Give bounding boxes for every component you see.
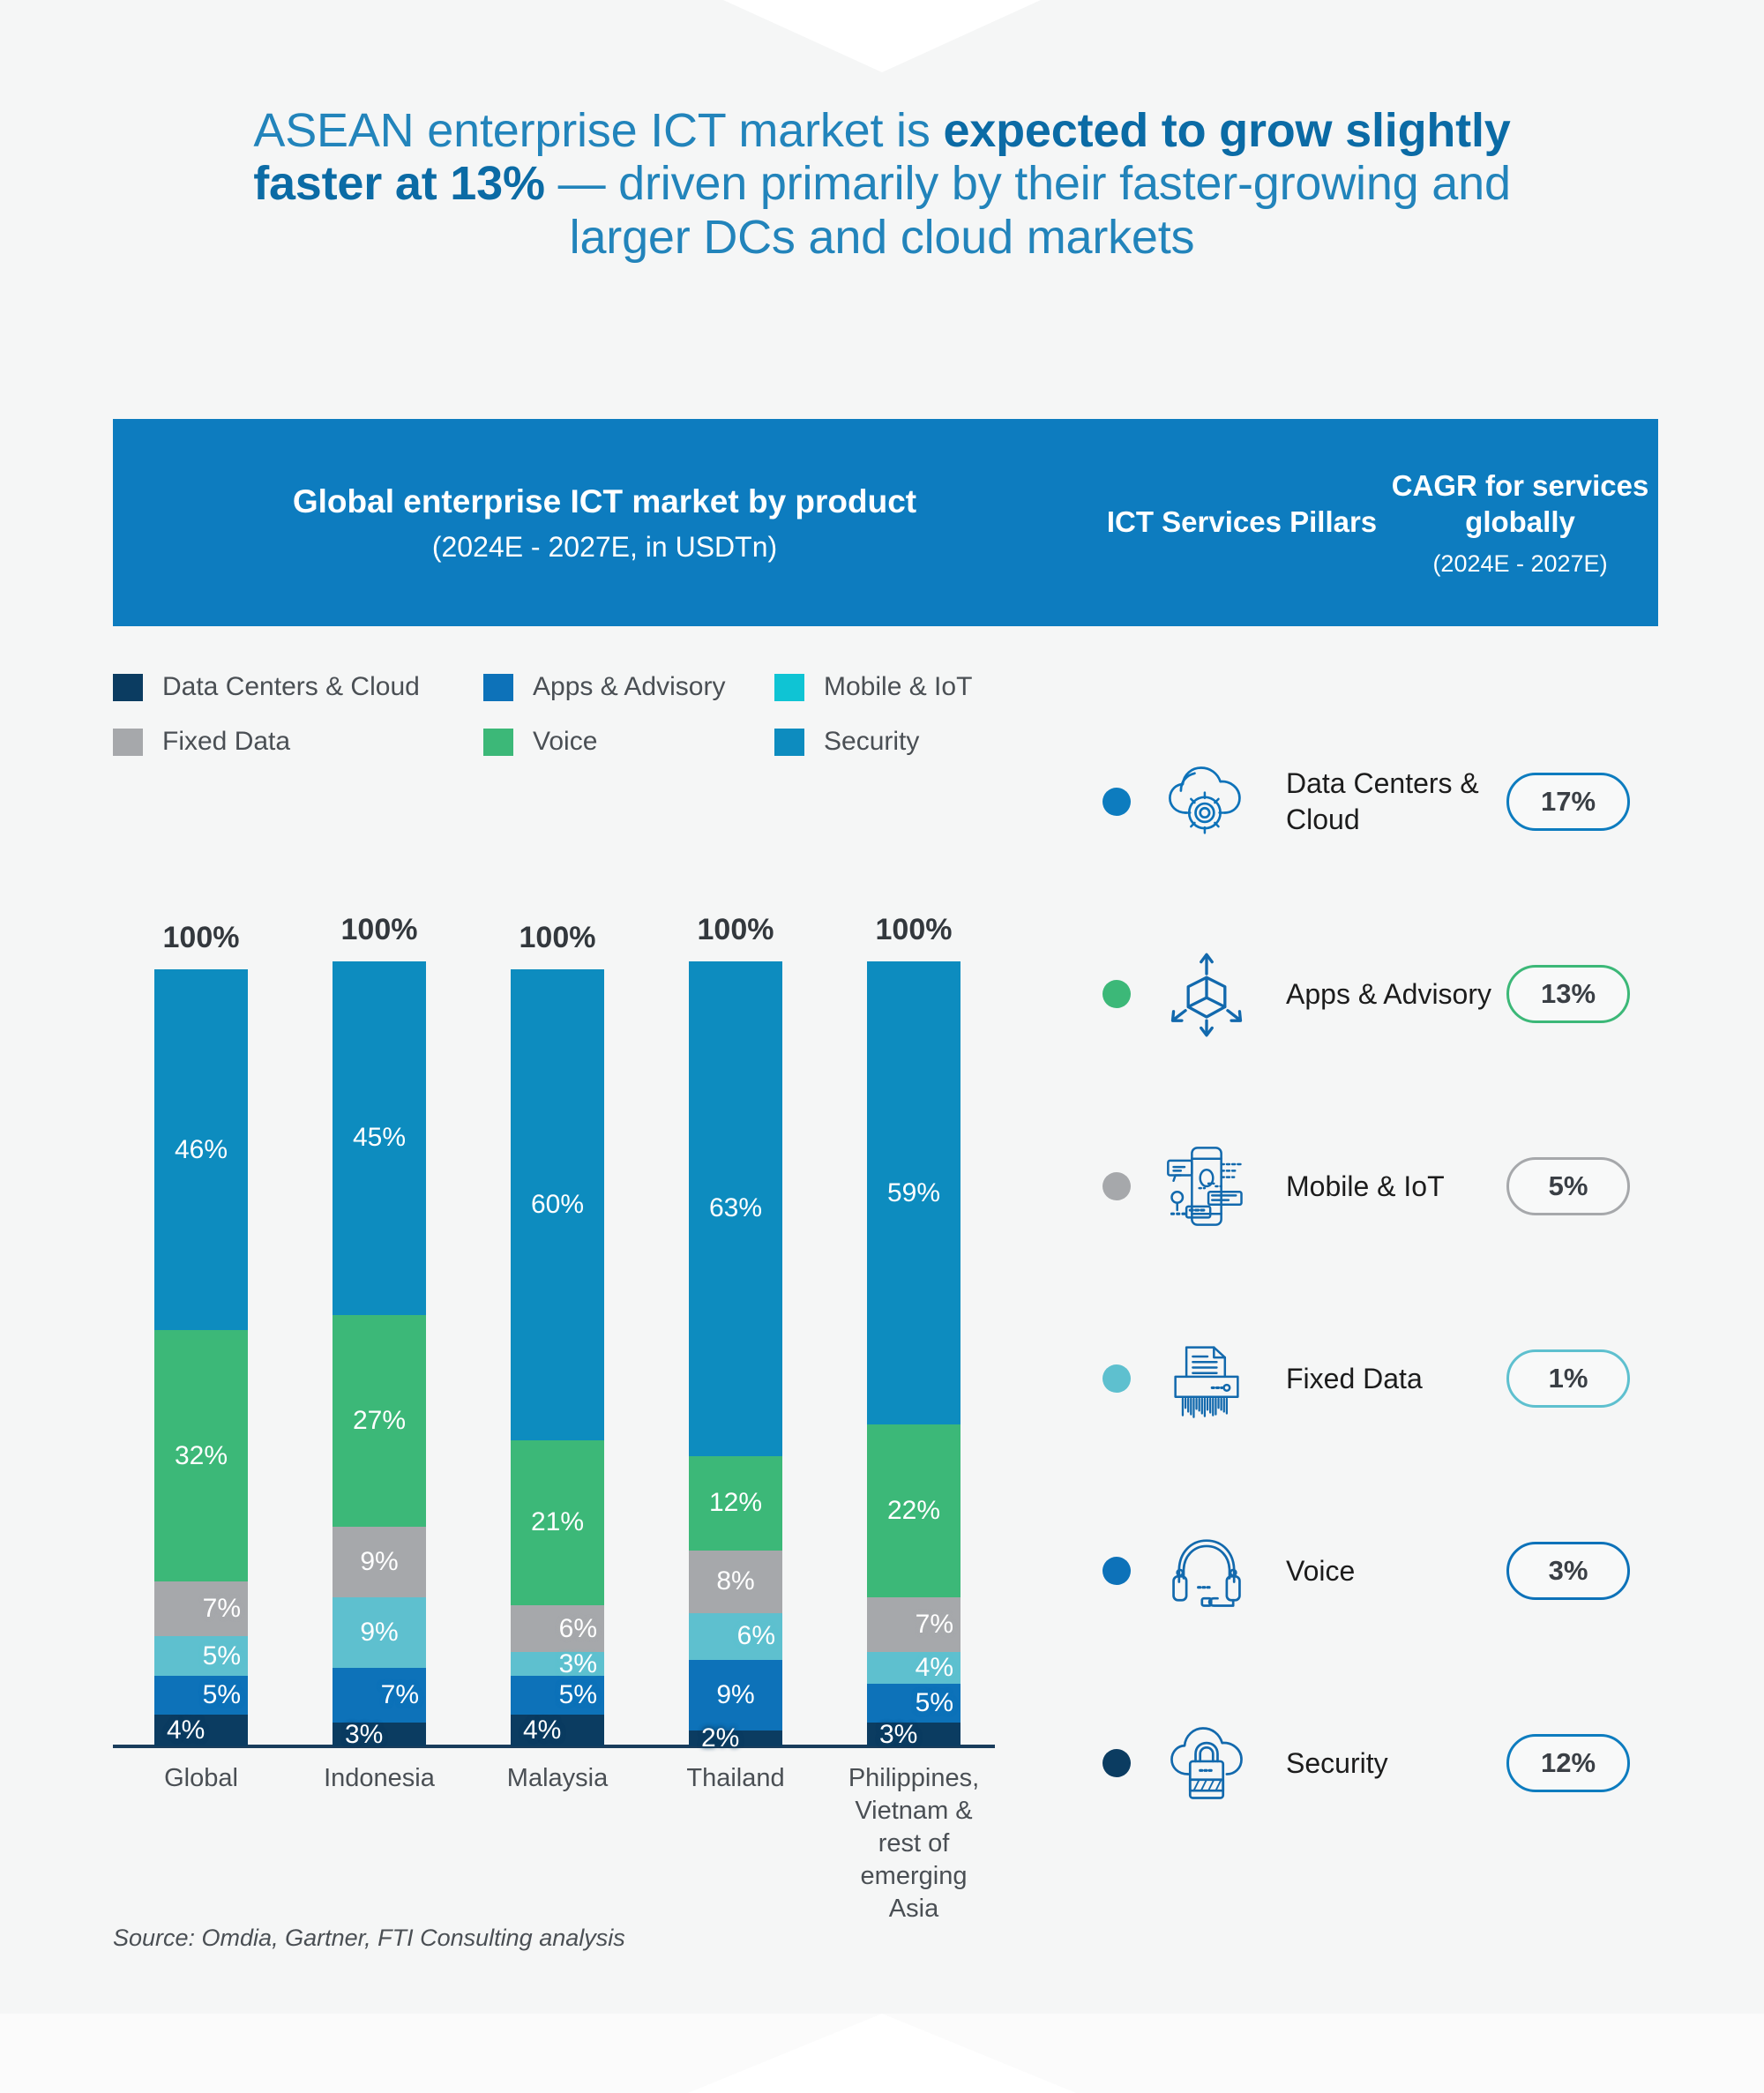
- bar-segment-label: 9%: [716, 1682, 754, 1708]
- pillar-cagr-badge: 12%: [1506, 1734, 1630, 1792]
- bar-segment: 22%: [867, 1424, 960, 1597]
- bar-column: 100%45%27%9%9%7%3%: [333, 961, 426, 1746]
- bar-segment: 4%: [511, 1715, 604, 1746]
- bar-segment: 6%: [689, 1613, 782, 1660]
- pillar-row[interactable]: Data Centers & Cloud17%: [1102, 706, 1720, 898]
- source-note: Source: Omdia, Gartner, FTI Consulting a…: [113, 1925, 625, 1952]
- banner-left-col: Global enterprise ICT market by product …: [113, 482, 1096, 564]
- bar-segment-label: 9%: [360, 1619, 398, 1646]
- pillar-bullet-icon: [1102, 1172, 1131, 1200]
- bar-segment: 6%: [511, 1605, 604, 1652]
- section-header-banner: Global enterprise ICT market by product …: [113, 419, 1658, 626]
- legend-label: Fixed Data: [162, 727, 290, 757]
- pillar-cagr-badge: 3%: [1506, 1542, 1630, 1600]
- bar-segment-label: 7%: [381, 1682, 419, 1708]
- legend-swatch-icon: [113, 674, 143, 701]
- legend-item: Fixed Data: [113, 727, 483, 757]
- bar-segment: 5%: [154, 1636, 248, 1676]
- banner-left-subtitle: (2024E - 2027E, in USDTn): [113, 531, 1096, 564]
- chart-legend: Data Centers & CloudApps & AdvisoryMobil…: [113, 660, 1065, 769]
- mobile-iot-icon: [1154, 1138, 1259, 1235]
- bar-segment: 2%: [689, 1730, 782, 1746]
- bar-segment: 46%: [154, 969, 248, 1330]
- bar-segment: 8%: [689, 1551, 782, 1613]
- legend-label: Mobile & IoT: [824, 672, 972, 702]
- bar-segment: 5%: [511, 1676, 604, 1716]
- pillar-cagr-badge: 1%: [1506, 1349, 1630, 1408]
- legend-item: Apps & Advisory: [483, 672, 774, 702]
- pillar-bullet-icon: [1102, 980, 1131, 1008]
- bar-segment-label: 5%: [559, 1682, 597, 1708]
- bar-segment-label: 3%: [345, 1722, 383, 1748]
- bar-segment: 5%: [867, 1684, 960, 1723]
- pillar-cagr-badge: 17%: [1506, 773, 1630, 831]
- bar-total-label: 100%: [689, 913, 782, 961]
- pillar-name-label: Apps & Advisory: [1286, 976, 1506, 1013]
- bar-segment: 9%: [689, 1660, 782, 1730]
- bar-segment: 3%: [333, 1723, 426, 1746]
- bar-segment-label: 21%: [531, 1509, 584, 1536]
- bar-segment-label: 9%: [360, 1549, 398, 1575]
- pillar-row[interactable]: Security12%: [1102, 1667, 1720, 1859]
- bar-segment-label: 63%: [709, 1195, 762, 1222]
- legend-item: Data Centers & Cloud: [113, 672, 483, 702]
- pillar-bullet-icon: [1102, 788, 1131, 816]
- pillar-name-label: Voice: [1286, 1553, 1506, 1589]
- bar-segment-label: 4%: [167, 1717, 205, 1744]
- bar-stack: 59%22%7%4%5%3%: [867, 961, 960, 1746]
- printer-data-icon: [1154, 1330, 1259, 1427]
- bar-segment-label: 5%: [203, 1682, 241, 1708]
- banner-mid-title: ICT Services Pillars: [1096, 504, 1387, 542]
- bar-segment-label: 2%: [701, 1725, 739, 1752]
- bar-segment: 7%: [867, 1597, 960, 1652]
- bar-segment-label: 6%: [559, 1616, 597, 1642]
- bar-total-label: 100%: [511, 921, 604, 969]
- headline-part-1: ASEAN enterprise ICT market is: [253, 104, 943, 157]
- bar-segment-label: 3%: [559, 1651, 597, 1678]
- bar-segment-label: 32%: [175, 1443, 228, 1469]
- legend-swatch-icon: [483, 674, 513, 701]
- bar-stack: 46%32%7%5%5%4%: [154, 969, 248, 1746]
- bar-segment: 59%: [867, 961, 960, 1424]
- bar-segment: 4%: [154, 1715, 248, 1746]
- bar-stack: 45%27%9%9%7%3%: [333, 961, 426, 1746]
- legend-item: Mobile & IoT: [774, 672, 1065, 702]
- pillar-bullet-icon: [1102, 1557, 1131, 1585]
- legend-label: Voice: [533, 727, 597, 757]
- cloud-lock-icon: [1154, 1715, 1259, 1812]
- pillar-row[interactable]: Voice3%: [1102, 1475, 1720, 1667]
- bar-segment-label: 3%: [879, 1722, 917, 1748]
- bar-segment-label: 8%: [716, 1568, 754, 1595]
- pillar-row[interactable]: Fixed Data1%: [1102, 1282, 1720, 1475]
- banner-right-col: CAGR for services globally (2024E - 2027…: [1387, 467, 1658, 579]
- bar-total-label: 100%: [154, 921, 248, 969]
- category-label: Philippines, Vietnam & rest of emerging …: [839, 1762, 989, 1926]
- pillar-name-label: Mobile & IoT: [1286, 1169, 1506, 1205]
- ict-services-pillars-list: Data Centers & Cloud17% Apps & Advisory1…: [1102, 706, 1720, 1859]
- category-label: Global: [126, 1762, 276, 1795]
- legend-swatch-icon: [774, 729, 804, 756]
- bar-segment: 7%: [333, 1668, 426, 1723]
- legend-label: Data Centers & Cloud: [162, 672, 420, 702]
- top-chevron-decoration: [723, 0, 1041, 72]
- bar-segment-label: 4%: [523, 1717, 561, 1744]
- category-label: Indonesia: [304, 1762, 454, 1795]
- bottom-chevron-decoration: [688, 2014, 1076, 2093]
- pillar-bullet-icon: [1102, 1364, 1131, 1393]
- bar-stack: 60%21%6%3%5%4%: [511, 969, 604, 1746]
- bar-segment: 63%: [689, 961, 782, 1456]
- bar-segment-label: 7%: [203, 1596, 241, 1622]
- bar-segment: 3%: [867, 1723, 960, 1746]
- banner-right-title: CAGR for services globally: [1387, 467, 1653, 541]
- bar-segment-label: 7%: [916, 1611, 953, 1638]
- infographic-root: ASEAN enterprise ICT market is expected …: [0, 0, 1764, 2093]
- pillar-bullet-icon: [1102, 1749, 1131, 1777]
- bar-column: 100%60%21%6%3%5%4%: [511, 969, 604, 1746]
- bar-segment: 3%: [511, 1652, 604, 1676]
- bar-segment: 32%: [154, 1330, 248, 1581]
- bar-segment-label: 46%: [175, 1137, 228, 1163]
- bar-segment-label: 4%: [916, 1655, 953, 1681]
- bar-segment-label: 27%: [353, 1408, 406, 1434]
- bar-column: 100%63%12%8%6%9%2%: [689, 961, 782, 1746]
- bar-column: 100%59%22%7%4%5%3%: [867, 961, 960, 1746]
- page-title: ASEAN enterprise ICT market is expected …: [229, 104, 1535, 264]
- bar-segment-label: 60%: [531, 1192, 584, 1218]
- pillar-name-label: Data Centers & Cloud: [1286, 766, 1506, 838]
- category-label: Malaysia: [482, 1762, 632, 1795]
- bar-segment: 9%: [333, 1527, 426, 1597]
- bar-segment: 60%: [511, 969, 604, 1440]
- bar-segment: 45%: [333, 961, 426, 1315]
- stacked-bar-chart: GlobalIndonesiaMalaysiaThailandPhilippin…: [113, 838, 1074, 1808]
- bar-segment: 9%: [333, 1597, 426, 1668]
- cube-arrows-icon: [1154, 946, 1259, 1043]
- bar-stack: 63%12%8%6%9%2%: [689, 961, 782, 1746]
- cloud-gear-icon: [1154, 753, 1259, 850]
- bar-segment-label: 12%: [709, 1490, 762, 1516]
- bar-column: 100%46%32%7%5%5%4%: [154, 969, 248, 1746]
- pillar-cagr-badge: 5%: [1506, 1157, 1630, 1215]
- legend-item: Security: [774, 727, 1065, 757]
- bar-segment-label: 5%: [203, 1643, 241, 1670]
- banner-left-title: Global enterprise ICT market by product: [113, 482, 1096, 522]
- legend-label: Apps & Advisory: [533, 672, 725, 702]
- legend-item: Voice: [483, 727, 774, 757]
- bar-segment-label: 5%: [916, 1690, 953, 1716]
- pillar-cagr-badge: 13%: [1506, 965, 1630, 1023]
- bar-segment: 27%: [333, 1315, 426, 1527]
- legend-swatch-icon: [113, 729, 143, 756]
- legend-swatch-icon: [774, 674, 804, 701]
- bar-total-label: 100%: [867, 913, 960, 961]
- category-label: Thailand: [661, 1762, 811, 1795]
- pillar-row[interactable]: Mobile & IoT5%: [1102, 1090, 1720, 1282]
- pillar-name-label: Fixed Data: [1286, 1361, 1506, 1397]
- bar-segment: 12%: [689, 1456, 782, 1551]
- bar-segment: 21%: [511, 1440, 604, 1605]
- bar-segment: 5%: [154, 1676, 248, 1716]
- bar-segment: 7%: [154, 1581, 248, 1636]
- legend-label: Security: [824, 727, 919, 757]
- bar-segment: 4%: [867, 1652, 960, 1684]
- bar-total-label: 100%: [333, 913, 426, 961]
- pillar-name-label: Security: [1286, 1745, 1506, 1782]
- bar-segment-label: 59%: [887, 1180, 940, 1207]
- bar-segment-label: 45%: [353, 1125, 406, 1151]
- headline-part-2: — driven primarily by their faster-growi…: [545, 157, 1511, 263]
- headset-icon: [1154, 1522, 1259, 1619]
- bar-segment-label: 22%: [887, 1498, 940, 1524]
- bar-segment-label: 6%: [737, 1623, 775, 1649]
- pillar-row[interactable]: Apps & Advisory13%: [1102, 898, 1720, 1090]
- banner-right-subtitle: (2024E - 2027E): [1387, 550, 1653, 578]
- legend-swatch-icon: [483, 729, 513, 756]
